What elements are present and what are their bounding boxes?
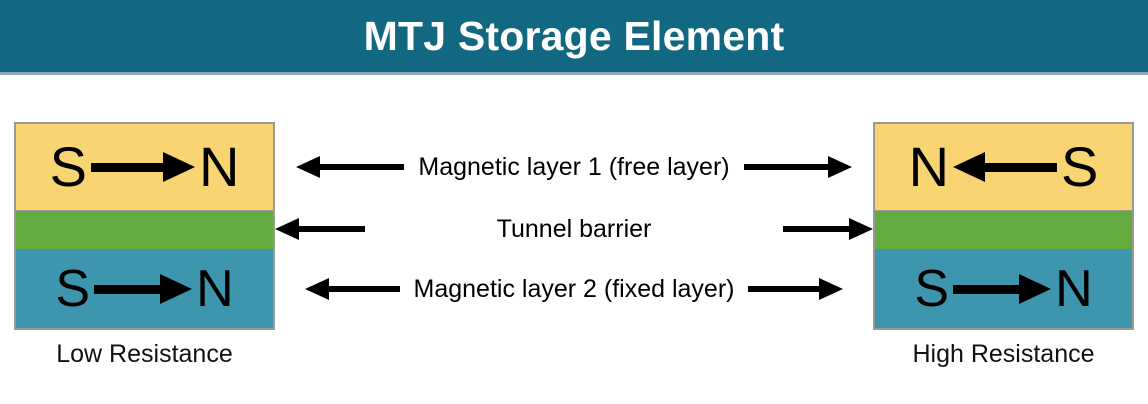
page-title: MTJ Storage Element	[0, 10, 1148, 62]
mtj-stack-low-resistance: S N S N	[14, 122, 275, 330]
fixed-layer-callout: Magnetic layer 2 (fixed layer)	[275, 273, 873, 305]
left-free-layer-magnetization: S N	[16, 139, 273, 195]
left-fixed-layer: S N	[16, 249, 273, 328]
fixed-layer-callout-arrow-right-icon	[748, 278, 843, 300]
left-fixed-layer-north-pole: N	[196, 263, 234, 315]
tunnel-barrier-callout-label: Tunnel barrier	[483, 215, 666, 244]
left-free-layer-south-pole: S	[50, 139, 87, 195]
right-free-layer-south-pole: S	[1061, 139, 1098, 195]
fixed-layer-callout-label: Magnetic layer 2 (fixed layer)	[400, 275, 749, 304]
right-fixed-layer-south-pole: S	[914, 263, 949, 315]
right-tunnel-barrier-layer	[875, 210, 1132, 249]
right-free-layer-magnetization: N S	[875, 139, 1132, 195]
right-fixed-layer: S N	[875, 249, 1132, 328]
free-layer-callout-arrow-right-icon	[744, 156, 852, 178]
tunnel-barrier-callout-arrow-right-icon	[783, 218, 873, 240]
free-layer-callout: Magnetic layer 1 (free layer)	[275, 151, 873, 183]
fixed-layer-callout-arrow-left-icon	[305, 278, 400, 300]
header-underline-divider	[0, 72, 1148, 75]
free-layer-callout-arrow-left-icon	[296, 156, 404, 178]
left-free-layer: S N	[16, 124, 273, 210]
left-stack-caption: Low Resistance	[14, 340, 275, 369]
tunnel-barrier-callout: Tunnel barrier	[275, 213, 873, 245]
left-fixed-layer-magnetization: S N	[16, 263, 273, 315]
left-fixed-layer-south-pole: S	[55, 263, 90, 315]
left-free-layer-north-pole: N	[199, 139, 239, 195]
left-free-layer-arrow-right-icon	[91, 154, 195, 180]
tunnel-barrier-callout-arrow-left-icon	[275, 218, 365, 240]
right-fixed-layer-arrow-right-icon	[953, 276, 1051, 302]
right-free-layer: N S	[875, 124, 1132, 210]
left-fixed-layer-arrow-right-icon	[94, 276, 192, 302]
mtj-stack-high-resistance: N S S N	[873, 122, 1134, 330]
right-free-layer-north-pole: N	[909, 139, 949, 195]
free-layer-callout-label: Magnetic layer 1 (free layer)	[404, 153, 743, 182]
right-fixed-layer-magnetization: S N	[875, 263, 1132, 315]
left-tunnel-barrier-layer	[16, 210, 273, 249]
right-fixed-layer-north-pole: N	[1055, 263, 1093, 315]
right-stack-caption: High Resistance	[873, 340, 1134, 369]
right-free-layer-arrow-left-icon	[953, 154, 1057, 180]
